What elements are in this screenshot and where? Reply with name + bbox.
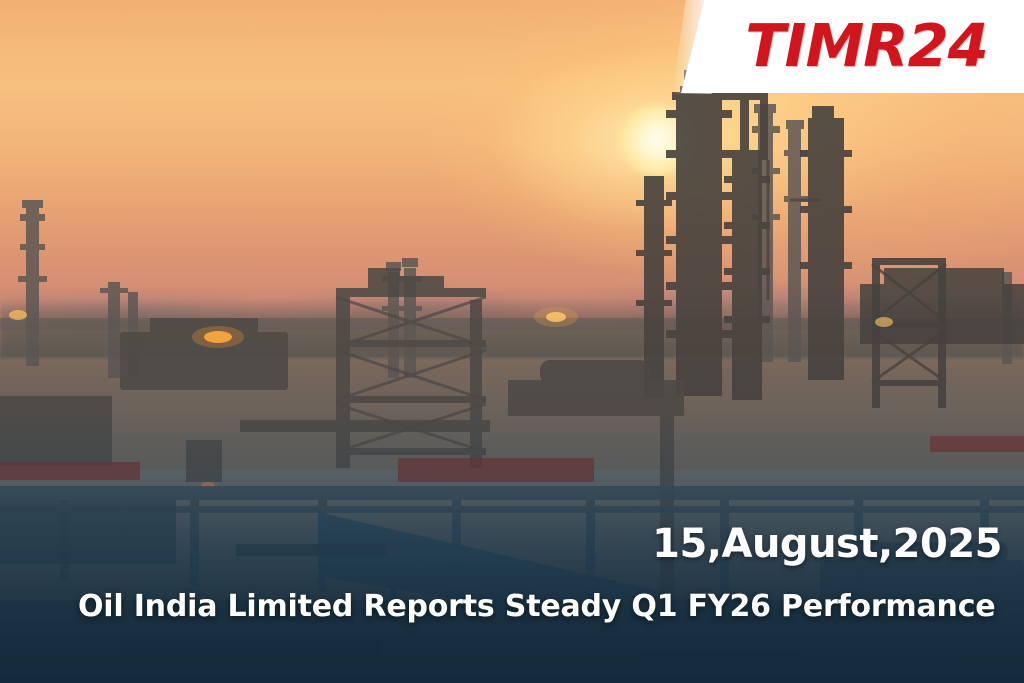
brand-logo[interactable]: TIMR24 <box>681 0 1024 93</box>
publication-date: 15,August,2025 <box>652 521 1002 567</box>
news-hero-poster: TIMR24 15,August,2025 Oil India Limited … <box>0 0 1024 683</box>
article-headline[interactable]: Oil India Limited Reports Steady Q1 FY26… <box>78 589 995 624</box>
